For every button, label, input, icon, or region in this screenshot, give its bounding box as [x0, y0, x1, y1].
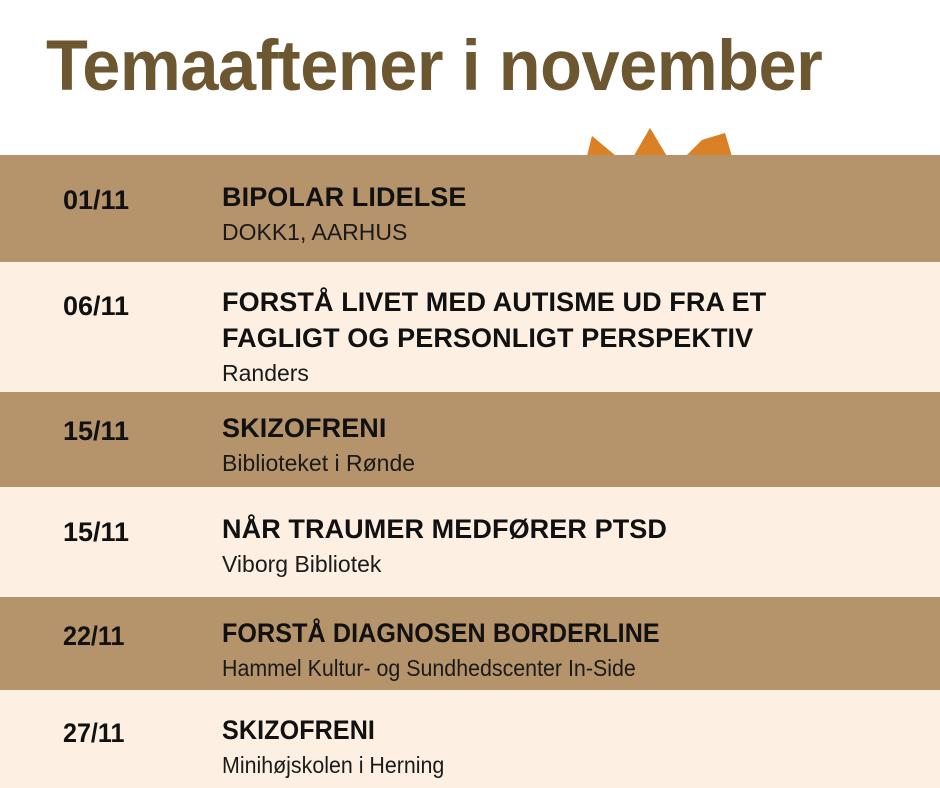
event-venue: Viborg Bibliotek — [222, 549, 940, 579]
event-venue: Hammel Kultur- og Sundhedscenter In-Side — [222, 653, 890, 683]
event-title: NÅR TRAUMER MEDFØRER PTSD — [222, 511, 940, 547]
event-title: SKIZOFRENI — [222, 410, 940, 446]
event-list: 01/11 BIPOLAR LIDELSE DOKK1, AARHUS 06/1… — [0, 155, 940, 788]
event-date: 15/11 — [63, 416, 129, 447]
event-title: FORSTÅ DIAGNOSEN BORDERLINE — [222, 615, 890, 651]
event-title: FORSTÅ LIVET MED AUTISME UD FRA ET FAGLI… — [222, 284, 940, 356]
poster-canvas: Temaaftener i november — [0, 0, 940, 788]
event-date: 01/11 — [63, 185, 129, 216]
event-date: 06/11 — [63, 291, 129, 322]
event-date: 15/11 — [63, 517, 129, 548]
event-row[interactable]: 27/11 SKIZOFRENI Minihøjskolen i Herning — [0, 690, 940, 788]
event-venue: DOKK1, AARHUS — [222, 217, 940, 247]
event-title: SKIZOFRENI — [222, 712, 890, 748]
event-row[interactable]: 15/11 SKIZOFRENI Biblioteket i Rønde — [0, 392, 940, 487]
event-venue: Minihøjskolen i Herning — [222, 750, 890, 780]
event-venue: Randers — [222, 358, 940, 388]
page-title: Temaaftener i november — [46, 24, 876, 110]
event-date: 27/11 — [63, 718, 124, 749]
poster-header: Temaaftener i november — [0, 0, 940, 155]
event-venue: Biblioteket i Rønde — [222, 448, 940, 478]
event-date: 22/11 — [63, 621, 124, 652]
event-row[interactable]: 06/11 FORSTÅ LIVET MED AUTISME UD FRA ET… — [0, 262, 940, 392]
event-row[interactable]: 15/11 NÅR TRAUMER MEDFØRER PTSD Viborg B… — [0, 487, 940, 597]
event-title: BIPOLAR LIDELSE — [222, 179, 940, 215]
event-row[interactable]: 22/11 FORSTÅ DIAGNOSEN BORDERLINE Hammel… — [0, 597, 940, 690]
event-row[interactable]: 01/11 BIPOLAR LIDELSE DOKK1, AARHUS — [0, 155, 940, 262]
